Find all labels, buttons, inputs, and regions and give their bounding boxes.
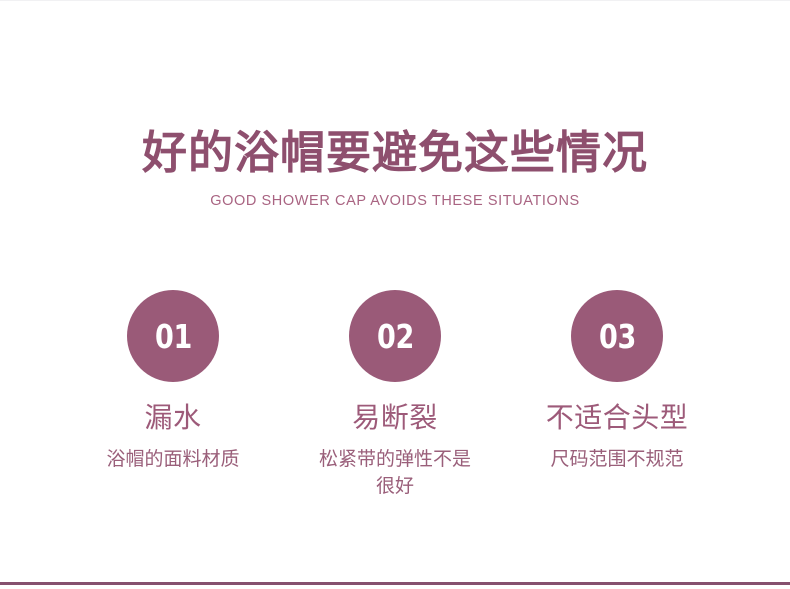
- promo-banner: 好的浴帽要避免这些情况 GOOD SHOWER CAP AVOIDS THESE…: [0, 0, 790, 589]
- badge-number-label: 02: [377, 320, 414, 353]
- header-block: 好的浴帽要避免这些情况 GOOD SHOWER CAP AVOIDS THESE…: [0, 126, 790, 210]
- feature-column-03: 03 不适合头型 尺码范围不规范: [506, 290, 728, 473]
- badge-number-label: 03: [599, 320, 636, 353]
- top-hairline-divider: [0, 0, 790, 1]
- page-subtitle: GOOD SHOWER CAP AVOIDS THESE SITUATIONS: [0, 193, 790, 210]
- feature-description-01: 浴帽的面料材质: [106, 446, 239, 473]
- feature-heading-01: 漏水: [144, 400, 201, 435]
- number-badge-03: 03: [571, 290, 663, 382]
- feature-heading-03: 不适合头型: [546, 400, 689, 435]
- feature-column-02: 02 易断裂 松紧带的弹性不是很好: [284, 290, 506, 500]
- feature-description-02: 松紧带的弹性不是很好: [315, 446, 475, 500]
- feature-column-01: 01 漏水 浴帽的面料材质: [62, 290, 284, 473]
- number-badge-01: 01: [127, 290, 219, 382]
- bottom-divider-rule: [0, 582, 790, 585]
- feature-heading-02: 易断裂: [352, 400, 438, 435]
- number-badge-02: 02: [349, 290, 441, 382]
- feature-description-03: 尺码范围不规范: [550, 446, 683, 473]
- badge-number-label: 01: [155, 320, 192, 353]
- feature-columns: 01 漏水 浴帽的面料材质 02 易断裂 松紧带的弹性不是很好 03 不适合头型…: [0, 290, 790, 500]
- page-title: 好的浴帽要避免这些情况: [0, 126, 790, 179]
